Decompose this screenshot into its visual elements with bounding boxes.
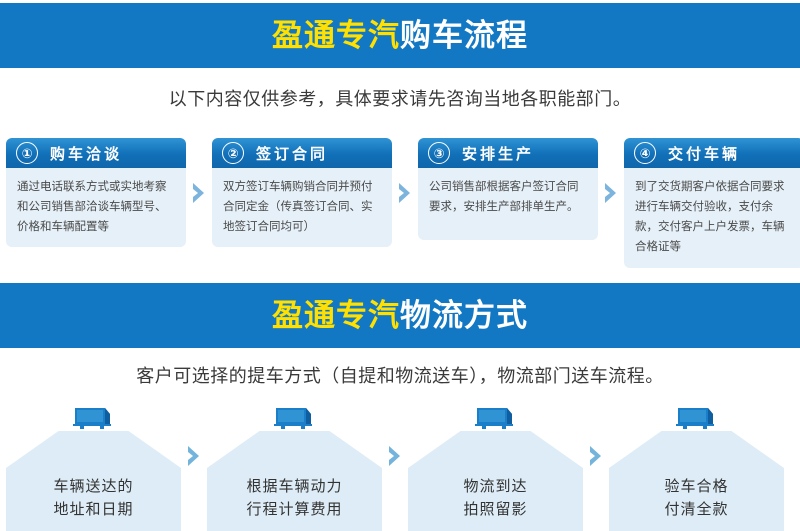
step-number-1: ① [16,142,38,164]
purchase-subtitle: 以下内容仅供参考，具体要求请先咨询当地各职能部门。 [0,85,800,111]
logistics-subtitle: 客户可选择的提车方式（自提和物流送车），物流部门送车流程。 [0,362,800,388]
logistics-arrow-1 [181,405,207,531]
step-card-1[interactable]: ① 购车洽谈 通过电话联系方式或实地考察和公司销售部洽谈车辆型号、价格和车辆配置… [6,138,186,247]
chevron-right-icon [191,181,207,205]
logistics-banner: 盈通专汽物流方式 [0,283,800,348]
logistics-card-3[interactable]: 物流到达 拍照留影 [408,405,583,531]
step-header-2: ② 签订合同 [212,138,392,168]
step-arrow-2 [392,138,418,248]
step-title-3: 安排生产 [462,143,534,164]
truck-icon [473,405,519,431]
step-header-3: ③ 安排生产 [418,138,598,168]
logistics-card-1[interactable]: 车辆送达的 地址和日期 [6,405,181,531]
logistics-banner-brand: 盈通专汽 [272,298,400,333]
logistics-banner-title: 盈通专汽物流方式 [272,300,528,331]
truck-icon [71,405,117,431]
logistics-card-line2-2: 行程计算费用 [207,498,382,521]
step-body-2: 双方签订车辆购销合同并预付合同定金（传真签订合同、实地签订合同均可） [212,168,392,247]
logistics-arrow-2 [382,405,408,531]
logistics-card-line2-3: 拍照留影 [408,498,583,521]
logistics-banner-rest: 物流方式 [400,298,528,333]
purchase-banner-brand: 盈通专汽 [272,18,400,53]
logistics-arrow-3 [583,405,609,531]
logistics-card-line1-2: 根据车辆动力 [207,475,382,498]
logistics-card-line1-1: 车辆送达的 [6,475,181,498]
step-body-3: 公司销售部根据客户签订合同要求，安排生产部排单生产。 [418,168,598,240]
logistics-card-line2-4: 付清全款 [609,498,784,521]
step-title-2: 签订合同 [256,143,328,164]
step-card-3[interactable]: ③ 安排生产 公司销售部根据客户签订合同要求，安排生产部排单生产。 [418,138,598,240]
step-title-4: 交付车辆 [668,143,740,164]
chevron-right-icon [603,181,619,205]
step-number-4: ④ [634,142,656,164]
truck-icon [272,405,318,431]
truck-icon [674,405,720,431]
step-header-4: ④ 交付车辆 [624,138,800,168]
logistics-card-line2-1: 地址和日期 [6,498,181,521]
step-title-1: 购车洽谈 [50,143,122,164]
purchase-banner-rest: 购车流程 [400,18,528,53]
logistics-card-text-1: 车辆送达的 地址和日期 [6,475,181,522]
logistics-card-line1-3: 物流到达 [408,475,583,498]
chevron-right-icon [397,181,413,205]
purchase-banner: 盈通专汽购车流程 [0,3,800,68]
step-arrow-1 [186,138,212,248]
purchase-steps: ① 购车洽谈 通过电话联系方式或实地考察和公司销售部洽谈车辆型号、价格和车辆配置… [0,138,800,253]
logistics-card-text-4: 验车合格 付清全款 [609,475,784,522]
logistics-card-2[interactable]: 根据车辆动力 行程计算费用 [207,405,382,531]
chevron-right-icon [186,444,202,468]
step-number-2: ② [222,142,244,164]
step-body-4: 到了交货期客户依据合同要求进行车辆交付验收，支付余款，交付客户上户发票，车辆合格… [624,168,800,268]
chevron-right-icon [387,444,403,468]
purchase-banner-title: 盈通专汽购车流程 [272,20,528,51]
step-body-1: 通过电话联系方式或实地考察和公司销售部洽谈车辆型号、价格和车辆配置等 [6,168,186,247]
infographic-page: 盈通专汽购车流程 以下内容仅供参考，具体要求请先咨询当地各职能部门。 ① 购车洽… [0,0,800,531]
step-card-4[interactable]: ④ 交付车辆 到了交货期客户依据合同要求进行车辆交付验收，支付余款，交付客户上户… [624,138,800,268]
logistics-card-text-2: 根据车辆动力 行程计算费用 [207,475,382,522]
step-header-1: ① 购车洽谈 [6,138,186,168]
logistics-card-line1-4: 验车合格 [609,475,784,498]
step-card-2[interactable]: ② 签订合同 双方签订车辆购销合同并预付合同定金（传真签订合同、实地签订合同均可… [212,138,392,247]
logistics-steps: 车辆送达的 地址和日期 根据车辆动力 行程计算费用 [0,405,800,531]
logistics-card-4[interactable]: 验车合格 付清全款 [609,405,784,531]
chevron-right-icon [588,444,604,468]
step-number-3: ③ [428,142,450,164]
logistics-card-text-3: 物流到达 拍照留影 [408,475,583,522]
step-arrow-3 [598,138,624,248]
